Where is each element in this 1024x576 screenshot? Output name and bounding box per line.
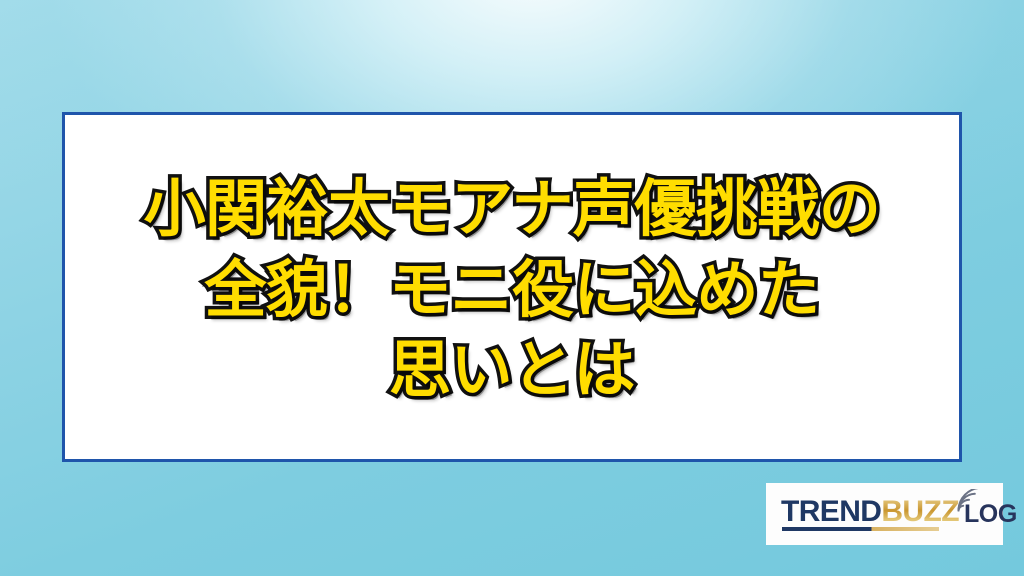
title-card: 小関裕太モアナ声優挑戦の 全貌！モニ役に込めた 思いとは	[62, 112, 962, 462]
headline-line-1: 小関裕太モアナ声優挑戦の	[144, 169, 881, 250]
logo-underline-bar	[782, 527, 939, 531]
brand-logo: TRENDBUZZLOG	[766, 483, 1003, 545]
page-title: 小関裕太モアナ声優挑戦の 全貌！モニ役に込めた 思いとは	[144, 169, 881, 411]
logo-word-buzz: BUZZ	[881, 497, 959, 527]
thumbnail-canvas: 小関裕太モアナ声優挑戦の 全貌！モニ役に込めた 思いとは TRENDBUZZLO…	[0, 0, 1024, 576]
logo-inner: TRENDBUZZLOG	[781, 492, 988, 536]
wifi-signal-icon	[955, 489, 983, 513]
headline-line-2: 全貌！モニ役に込めた	[144, 250, 881, 331]
logo-word-trend: TREND	[781, 497, 881, 527]
headline-line-3: 思いとは	[144, 330, 881, 411]
